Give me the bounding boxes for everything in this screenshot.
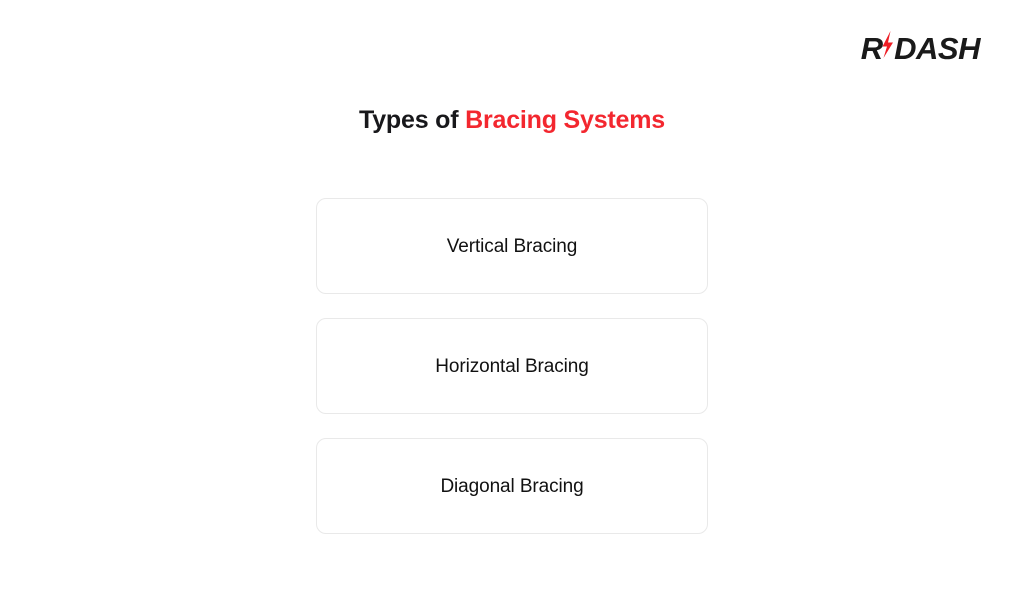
bracing-card-label: Horizontal Bracing — [435, 355, 588, 379]
bracing-card-label: Vertical Bracing — [447, 235, 577, 259]
lightning-bolt-icon — [880, 31, 895, 61]
bracing-types-list: Vertical Bracing Horizontal Bracing Diag… — [316, 198, 708, 534]
bracing-card-horizontal[interactable]: Horizontal Bracing — [316, 318, 708, 414]
page-title-prefix: Types of — [359, 106, 465, 134]
bracing-card-label: Diagonal Bracing — [440, 475, 583, 499]
bracing-card-vertical[interactable]: Vertical Bracing — [316, 198, 708, 294]
bracing-card-diagonal[interactable]: Diagonal Bracing — [316, 438, 708, 534]
brand-logo: R DASH — [861, 33, 980, 64]
logo-word-dash: DASH — [894, 33, 980, 64]
page-title: Types of Bracing Systems — [0, 104, 1024, 136]
logo-letter-r: R — [861, 33, 882, 64]
page-title-accent: Bracing Systems — [465, 106, 665, 134]
